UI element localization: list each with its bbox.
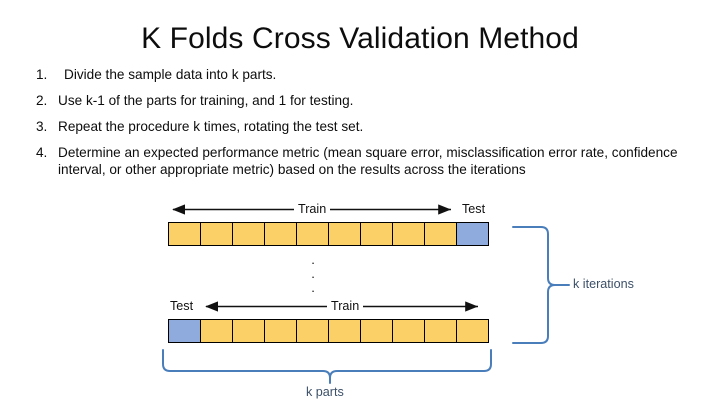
fold-cell-train[interactable]	[169, 223, 201, 245]
ellipsis-dot: .	[305, 281, 321, 295]
list-item-number: 2.	[36, 92, 58, 109]
fold-cell-train[interactable]	[329, 320, 361, 342]
fold-cell-train[interactable]	[361, 320, 393, 342]
fold-cell-train[interactable]	[425, 223, 457, 245]
list-item-number: 4.	[36, 144, 58, 161]
page-title: K Folds Cross Validation Method	[0, 22, 720, 56]
fold-cell-train[interactable]	[201, 223, 233, 245]
list-item: 3. Repeat the procedure k times, rotatin…	[36, 118, 696, 135]
list-item-label: Use k-1 of the parts for training, and 1…	[58, 92, 696, 109]
list-item: 1. Divide the sample data into k parts.	[36, 66, 696, 83]
ellipsis-dots: . . .	[305, 253, 321, 295]
fold-cell-train[interactable]	[393, 223, 425, 245]
test-label-bottom: Test	[166, 299, 197, 313]
fold-cell-test[interactable]	[169, 320, 201, 342]
fold-cell-train[interactable]	[233, 223, 265, 245]
fold-cell-train[interactable]	[393, 320, 425, 342]
fold-cell-train[interactable]	[425, 320, 457, 342]
ellipsis-dot: .	[305, 253, 321, 267]
steps-list: 1. Divide the sample data into k parts. …	[36, 66, 696, 187]
fold-cell-train[interactable]	[457, 320, 488, 342]
train-label-bottom: Train	[327, 299, 363, 313]
list-item-number: 1.	[36, 66, 58, 83]
list-item: 4. Determine an expected performance met…	[36, 144, 696, 178]
k-parts-brace	[163, 350, 491, 378]
list-item: 2. Use k-1 of the parts for training, an…	[36, 92, 696, 109]
fold-cell-train[interactable]	[201, 320, 233, 342]
k-parts-label: k parts	[306, 385, 344, 399]
fold-row-last-iteration	[168, 319, 489, 343]
fold-cell-train[interactable]	[265, 320, 297, 342]
fold-cell-train[interactable]	[265, 223, 297, 245]
fold-cell-train[interactable]	[297, 320, 329, 342]
test-label-top: Test	[458, 202, 489, 216]
fold-cell-test[interactable]	[457, 223, 488, 245]
train-label-top: Train	[294, 202, 330, 216]
fold-cell-train[interactable]	[297, 223, 329, 245]
ellipsis-dot: .	[305, 267, 321, 281]
k-iterations-brace	[513, 227, 555, 343]
fold-row-first-iteration	[168, 222, 489, 246]
fold-cell-train[interactable]	[233, 320, 265, 342]
list-item-label: Divide the sample data into k parts.	[58, 66, 696, 83]
fold-cell-train[interactable]	[361, 223, 393, 245]
k-iterations-label: k iterations	[573, 277, 634, 291]
list-item-number: 3.	[36, 118, 58, 135]
cross-validation-diagram	[0, 0, 720, 405]
list-item-label: Repeat the procedure k times, rotating t…	[58, 118, 696, 135]
list-item-label: Determine an expected performance metric…	[58, 144, 696, 178]
fold-cell-train[interactable]	[329, 223, 361, 245]
